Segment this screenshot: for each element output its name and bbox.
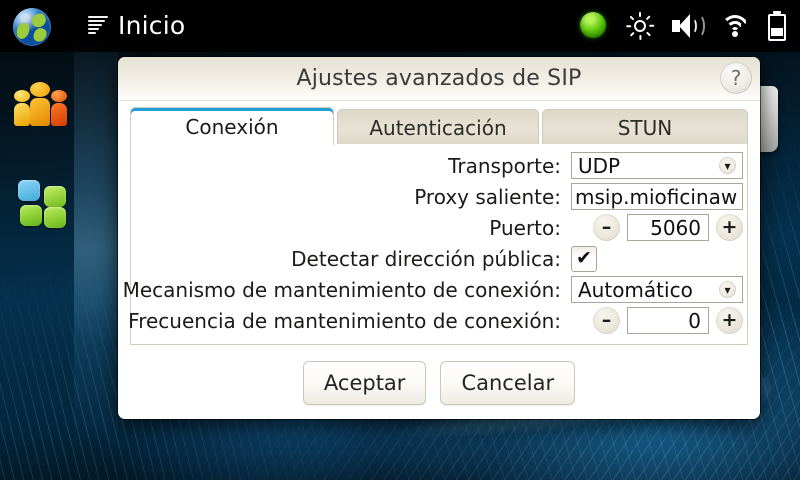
row-frecuencia-mantenimiento: Frecuencia de mantenimiento de conexión:… bbox=[135, 305, 743, 336]
tab-conexion[interactable]: Conexión bbox=[130, 107, 334, 145]
frecuencia-mantenimiento-label: Frecuencia de mantenimiento de conexión: bbox=[128, 309, 561, 333]
frecuencia-value[interactable]: 0 bbox=[627, 307, 709, 334]
detectar-direccion-publica-label: Detectar dirección pública: bbox=[291, 247, 561, 271]
frecuencia-stepper: – 0 + bbox=[571, 307, 743, 334]
app-grid-icon-tile-4 bbox=[44, 207, 66, 228]
app-grid-icon bbox=[18, 180, 40, 201]
proxy-saliente-input[interactable]: msip.mioficinaw bbox=[571, 183, 743, 210]
app-grid-icon-tile-3 bbox=[20, 205, 42, 226]
mecanismo-mantenimiento-select[interactable]: Automático ▾ bbox=[571, 276, 743, 303]
app-grid-icon-tile-2 bbox=[44, 186, 66, 207]
cancel-button[interactable]: Cancelar bbox=[440, 361, 575, 405]
puerto-control: – 5060 + bbox=[571, 214, 743, 241]
proxy-saliente-control: msip.mioficinaw bbox=[571, 183, 743, 210]
home-menu-button[interactable]: Inicio bbox=[84, 3, 195, 47]
row-proxy-saliente: Proxy saliente: msip.mioficinaw bbox=[135, 181, 743, 212]
wallpaper-light-band bbox=[74, 30, 118, 450]
tab-panel-conexion: Transporte: UDP ▾ Proxy saliente: msip.m… bbox=[130, 144, 748, 345]
status-tray bbox=[580, 0, 786, 52]
accept-button[interactable]: Aceptar bbox=[303, 361, 427, 405]
frecuencia-control: – 0 + bbox=[571, 307, 743, 334]
globe-icon[interactable] bbox=[13, 8, 51, 46]
contacts-icon bbox=[14, 90, 30, 126]
tab-conexion-label: Conexión bbox=[185, 115, 278, 139]
brightness-icon[interactable] bbox=[626, 12, 654, 40]
tab-bar: Conexión Autenticación STUN bbox=[130, 107, 748, 145]
proxy-saliente-label: Proxy saliente: bbox=[414, 185, 561, 209]
sip-advanced-settings-dialog: Ajustes avanzados de SIP ? Conexión Aute… bbox=[118, 57, 760, 419]
volume-speaker-icon[interactable] bbox=[672, 13, 702, 39]
home-menu-label: Inicio bbox=[118, 13, 185, 38]
transporte-control: UDP ▾ bbox=[571, 152, 743, 179]
battery-icon[interactable] bbox=[768, 11, 786, 41]
minus-icon[interactable]: – bbox=[593, 307, 620, 334]
detectar-direccion-publica-checkbox[interactable]: ✔ bbox=[571, 246, 597, 272]
shortcut-app-grid[interactable] bbox=[18, 180, 70, 232]
tab-autenticacion-label: Autenticación bbox=[369, 116, 506, 140]
plus-icon[interactable]: + bbox=[716, 214, 743, 241]
transporte-value: UDP bbox=[578, 154, 719, 178]
row-puerto: Puerto: – 5060 + bbox=[135, 212, 743, 243]
wifi-signal-icon[interactable] bbox=[720, 14, 750, 38]
hamburger-menu-icon bbox=[88, 16, 108, 34]
puerto-label: Puerto: bbox=[489, 216, 561, 240]
mecanismo-mantenimiento-label: Mecanismo de mantenimiento de conexión: bbox=[123, 278, 561, 302]
row-detectar-direccion-publica: Detectar dirección pública: ✔ bbox=[135, 243, 743, 274]
help-question-icon[interactable]: ? bbox=[720, 62, 752, 94]
mecanismo-mantenimiento-value: Automático bbox=[578, 278, 719, 302]
chevron-down-icon: ▾ bbox=[719, 281, 736, 298]
dialog-title-bar: Ajustes avanzados de SIP ? bbox=[118, 57, 760, 100]
mecanismo-control: Automático ▾ bbox=[571, 276, 743, 303]
chevron-down-icon: ▾ bbox=[719, 157, 736, 174]
minus-icon[interactable]: – bbox=[593, 214, 620, 241]
contacts-icon-figure-right bbox=[51, 90, 67, 126]
transporte-label: Transporte: bbox=[448, 154, 561, 178]
puerto-stepper: – 5060 + bbox=[571, 214, 743, 241]
row-mecanismo-mantenimiento: Mecanismo de mantenimiento de conexión: … bbox=[135, 274, 743, 305]
row-transporte: Transporte: UDP ▾ bbox=[135, 150, 743, 181]
plus-icon[interactable]: + bbox=[716, 307, 743, 334]
screen: Inicio bbox=[0, 0, 800, 480]
transporte-select[interactable]: UDP ▾ bbox=[571, 152, 743, 179]
dialog-body: Conexión Autenticación STUN Transporte: … bbox=[118, 101, 760, 405]
shortcut-contacts[interactable] bbox=[14, 78, 70, 126]
puerto-value[interactable]: 5060 bbox=[627, 214, 709, 241]
status-bar: Inicio bbox=[0, 0, 800, 52]
dialog-action-buttons: Aceptar Cancelar bbox=[130, 346, 748, 405]
detectar-control: ✔ bbox=[571, 246, 743, 272]
contacts-icon-figure-center bbox=[30, 82, 50, 126]
tab-autenticacion[interactable]: Autenticación bbox=[337, 109, 539, 145]
tab-stun-label: STUN bbox=[618, 116, 673, 140]
tab-stun[interactable]: STUN bbox=[542, 109, 748, 145]
dialog-title: Ajustes avanzados de SIP bbox=[296, 66, 581, 91]
presence-online-icon[interactable] bbox=[580, 12, 608, 40]
